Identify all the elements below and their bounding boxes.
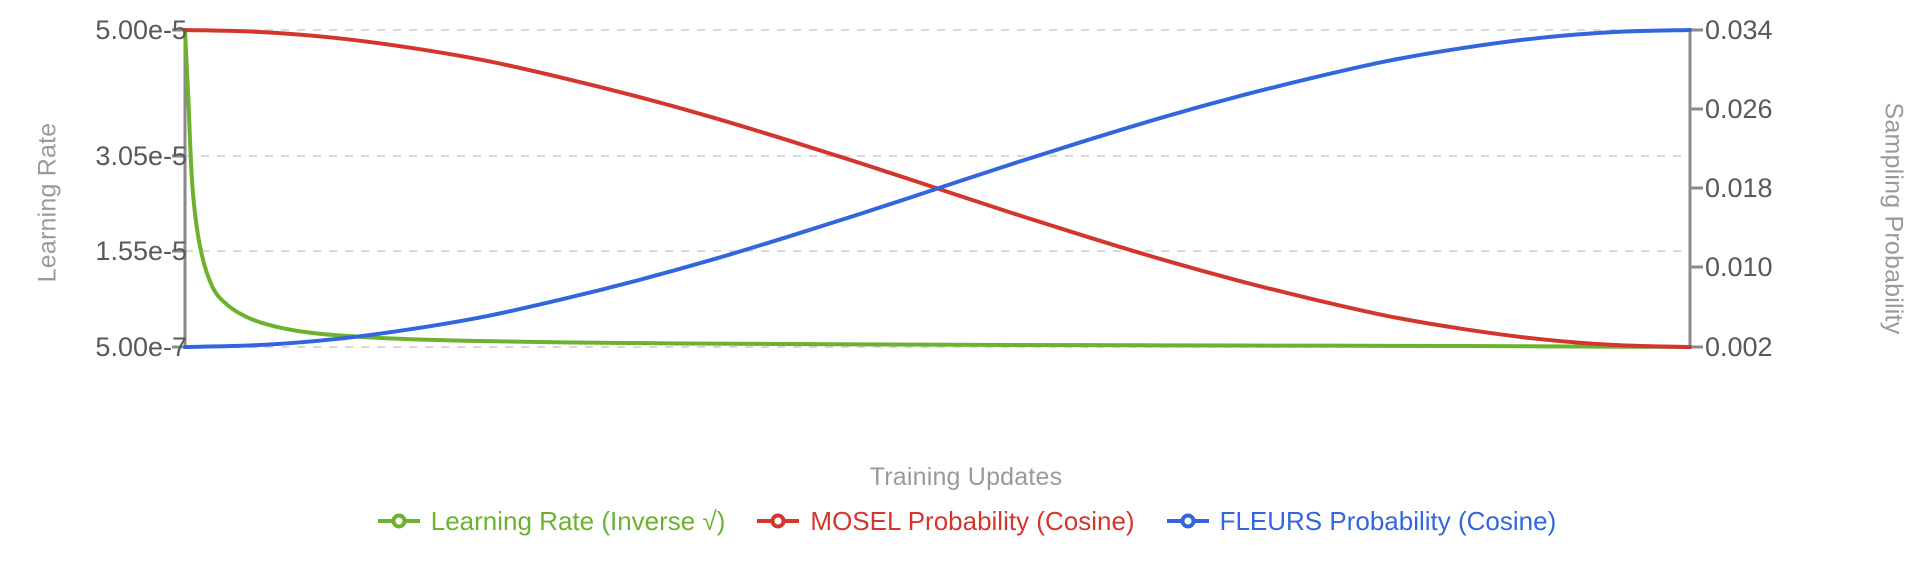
y-axis-left-title: Learning Rate: [34, 103, 63, 303]
legend-item-fleurs-probability[interactable]: FLEURS Probability (Cosine): [1165, 508, 1557, 534]
legend-marker-icon: [376, 511, 422, 531]
x-axis-title: Training Updates: [0, 463, 1932, 492]
y-left-tick-label-1: 3.05e-5: [95, 141, 187, 172]
y-right-tick-label-3: 0.010: [1705, 252, 1773, 283]
y-right-tick-label-2: 0.018: [1705, 173, 1773, 204]
series-line-fleurs-probability: [185, 30, 1690, 347]
plot-canvas: [0, 0, 1932, 582]
y-right-tick-label-4: 0.002: [1705, 332, 1773, 363]
y-left-tick-label-0: 5.00e-5: [95, 15, 187, 46]
y-left-tick-label-3: 5.00e-7: [95, 332, 187, 363]
y-axis-right-title: Sampling Probability: [1879, 103, 1908, 303]
y-left-tick-label-2: 1.55e-5: [95, 236, 187, 267]
legend-open-circle-icon: [773, 516, 784, 527]
legend-label-mosel-probability: MOSEL Probability (Cosine): [810, 508, 1134, 534]
y-right-tick-label-0: 0.034: [1705, 15, 1773, 46]
legend-item-mosel-probability[interactable]: MOSEL Probability (Cosine): [755, 508, 1134, 534]
legend-marker-icon: [1165, 511, 1211, 531]
y-right-tick-label-1: 0.026: [1705, 94, 1773, 125]
legend-marker-icon: [755, 511, 801, 531]
chart-figure: 5.00e-5 3.05e-5 1.55e-5 5.00e-7 0.034 0.…: [0, 0, 1932, 582]
chart-legend: Learning Rate (Inverse √) MOSEL Probabil…: [0, 508, 1932, 534]
legend-open-circle-icon: [393, 516, 404, 527]
legend-open-circle-icon: [1182, 516, 1193, 527]
right-axis-spine: [1690, 28, 1703, 348]
legend-label-fleurs-probability: FLEURS Probability (Cosine): [1220, 508, 1557, 534]
left-axis-spine: [172, 28, 185, 348]
legend-label-learning-rate: Learning Rate (Inverse √): [431, 508, 726, 534]
legend-item-learning-rate[interactable]: Learning Rate (Inverse √): [376, 508, 726, 534]
